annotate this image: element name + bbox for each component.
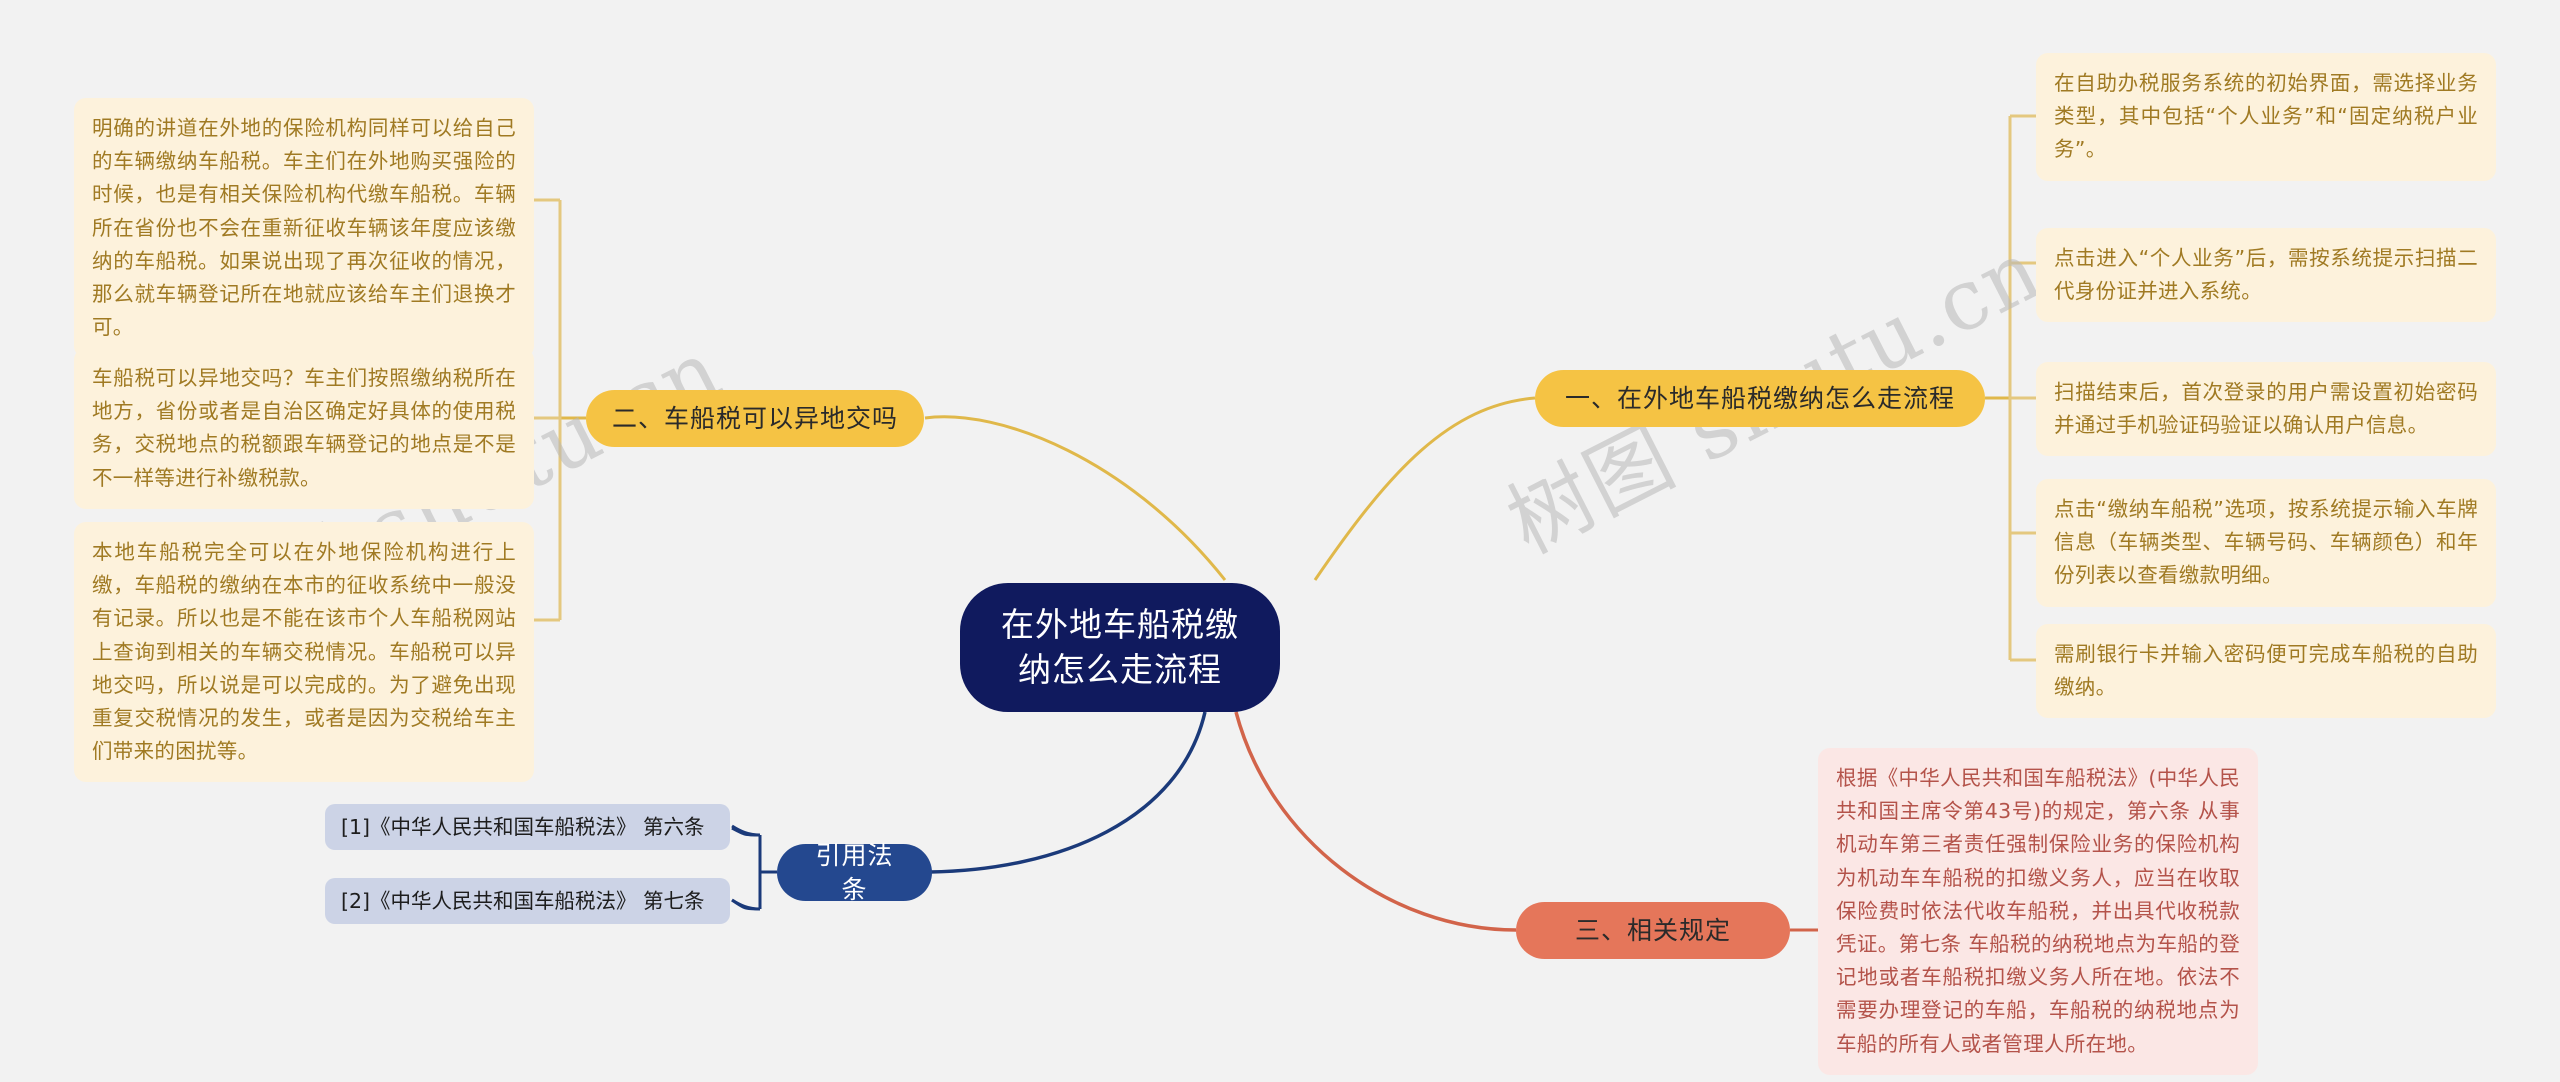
leaf-card-three-1[interactable]: 根据《中华人民共和国车船税法》(中华人民共和国主席令第43号)的规定，第六条 从… — [1818, 748, 2258, 1075]
branch-node-two[interactable]: 二、车船税可以异地交吗 — [586, 390, 924, 447]
leaf-card-one-5[interactable]: 需刷银行卡并输入密码便可完成车船税的自助缴纳。 — [2036, 624, 2496, 718]
leaf-card-one-4[interactable]: 点击“缴纳车船税”选项，按系统提示输入车牌信息（车辆类型、车辆号码、车辆颜色）和… — [2036, 479, 2496, 607]
leaf-card-one-2[interactable]: 点击进入“个人业务”后，需按系统提示扫描二代身份证并进入系统。 — [2036, 228, 2496, 322]
root-node[interactable]: 在外地车船税缴纳怎么走流程 — [960, 583, 1280, 712]
leaf-card-two-2[interactable]: 车船税可以异地交吗？车主们按照缴纳税所在地方，省份或者是自治区确定好具体的使用税… — [74, 348, 534, 509]
leaf-card-two-3[interactable]: 本地车船税完全可以在外地保险机构进行上缴，车船税的缴纳在本市的征收系统中一般没有… — [74, 522, 534, 782]
law-reference-2[interactable]: [2]《中华人民共和国车船税法》 第七条 — [325, 878, 730, 924]
leaf-card-one-1[interactable]: 在自助办税服务系统的初始界面，需选择业务类型，其中包括“个人业务”和“固定纳税户… — [2036, 53, 2496, 181]
branch-node-laws[interactable]: 引用法条 — [777, 844, 932, 901]
leaf-card-one-3[interactable]: 扫描结束后，首次登录的用户需设置初始密码并通过手机验证码验证以确认用户信息。 — [2036, 362, 2496, 456]
branch-node-one[interactable]: 一、在外地车船税缴纳怎么走流程 — [1535, 370, 1985, 427]
branch-node-three[interactable]: 三、相关规定 — [1516, 902, 1790, 959]
leaf-card-two-1[interactable]: 明确的讲道在外地的保险机构同样可以给自己的车辆缴纳车船税。车主们在外地购买强险的… — [74, 98, 534, 358]
law-reference-1[interactable]: [1]《中华人民共和国车船税法》 第六条 — [325, 804, 730, 850]
mindmap-canvas: 树图 shutu.cn 树图 shutu.cn 在外地车船税缴纳怎么走流程 一、… — [0, 0, 2560, 1082]
